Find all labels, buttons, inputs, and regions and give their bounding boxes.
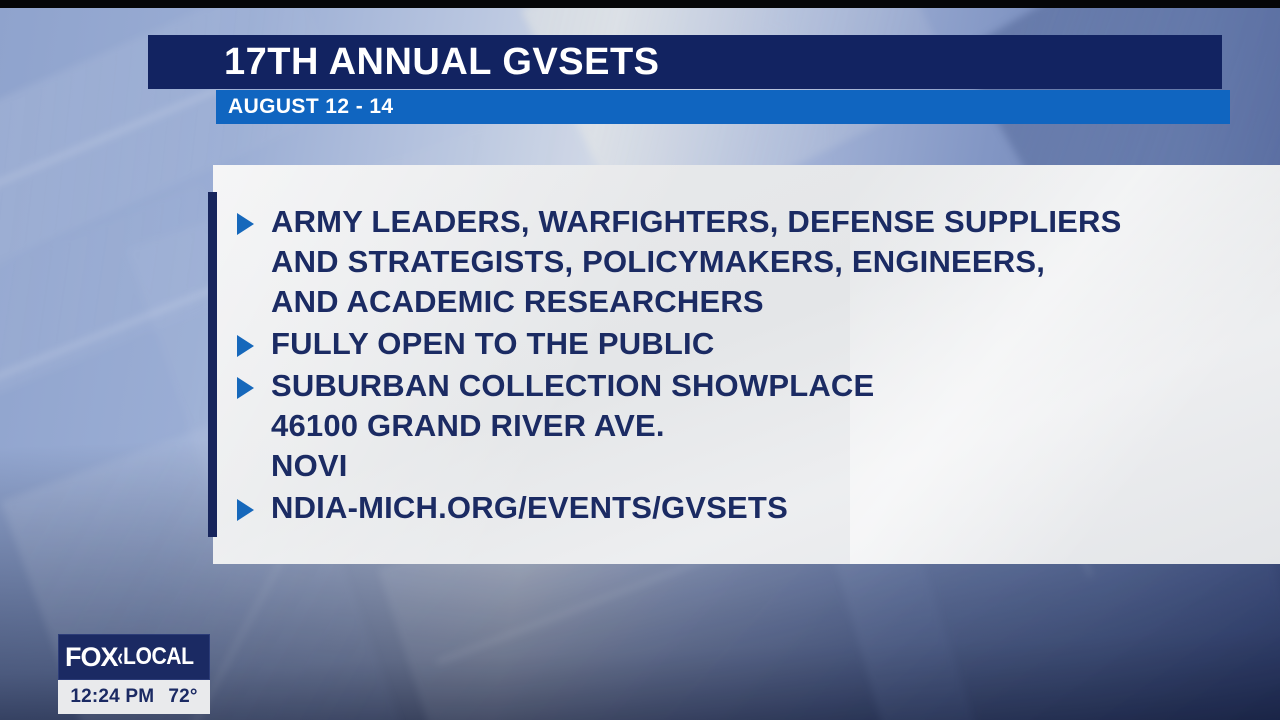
bullet-line: FULLY OPEN TO THE PUBLIC <box>271 324 1237 364</box>
list-item: SUBURBAN COLLECTION SHOWPLACE 46100 GRAN… <box>237 366 1237 486</box>
page-title: 17TH ANNUAL GVSETS <box>148 41 660 84</box>
bullet-line: 46100 GRAND RIVER AVE. <box>271 406 1237 446</box>
station-bug: FOX ‹ LOCAL 12:24 PM 72° <box>58 634 210 714</box>
broadcast-screen: 17TH ANNUAL GVSETS AUGUST 12 - 14 ARMY L… <box>0 0 1280 720</box>
list-item: FULLY OPEN TO THE PUBLIC <box>237 324 1237 364</box>
event-dates: AUGUST 12 - 14 <box>216 95 393 119</box>
list-item: NDIA-MICH.ORG/EVENTS/GVSETS <box>237 488 1237 528</box>
local-wordmark: LOCAL <box>123 643 194 671</box>
list-item: ARMY LEADERS, WARFIGHTERS, DEFENSE SUPPL… <box>237 202 1237 322</box>
list-item-text: ARMY LEADERS, WARFIGHTERS, DEFENSE SUPPL… <box>271 202 1237 322</box>
triangle-bullet-icon <box>237 202 271 235</box>
bullet-line: SUBURBAN COLLECTION SHOWPLACE <box>271 366 1237 406</box>
temperature-value: 72° <box>168 686 197 708</box>
triangle-bullet-icon <box>237 488 271 521</box>
title-bar: 17TH ANNUAL GVSETS <box>148 35 1222 89</box>
bullet-line: ARMY LEADERS, WARFIGHTERS, DEFENSE SUPPL… <box>271 202 1237 242</box>
bullet-line: AND ACADEMIC RESEARCHERS <box>271 282 1237 322</box>
bullet-line: AND STRATEGISTS, POLICYMAKERS, ENGINEERS… <box>271 242 1237 282</box>
bullet-line: NDIA-MICH.ORG/EVENTS/GVSETS <box>271 488 1237 528</box>
list-item-text: SUBURBAN COLLECTION SHOWPLACE 46100 GRAN… <box>271 366 1237 486</box>
list-item-text: FULLY OPEN TO THE PUBLIC <box>271 324 1237 364</box>
letterbox-top <box>0 0 1280 8</box>
panel-accent-bar <box>208 192 217 537</box>
list-item-text: NDIA-MICH.ORG/EVENTS/GVSETS <box>271 488 1237 528</box>
fox-wordmark: FOX <box>65 642 118 673</box>
bullet-list: ARMY LEADERS, WARFIGHTERS, DEFENSE SUPPL… <box>237 202 1237 530</box>
triangle-bullet-icon <box>237 324 271 357</box>
fox-local-logo: FOX ‹ LOCAL <box>58 634 210 680</box>
fox-separator-icon: ‹ <box>117 643 123 672</box>
time-temp-strip: 12:24 PM 72° <box>58 680 210 714</box>
bullet-line: NOVI <box>271 446 1237 486</box>
triangle-bullet-icon <box>237 366 271 399</box>
subtitle-bar: AUGUST 12 - 14 <box>216 90 1230 124</box>
clock-time: 12:24 PM <box>70 686 154 708</box>
